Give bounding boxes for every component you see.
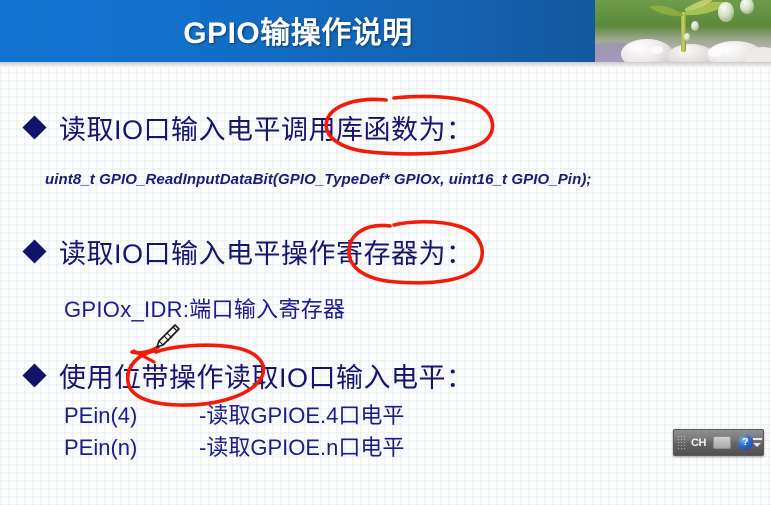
bullet-item-2: 读取IO口输入电平操作寄存器为： — [26, 232, 474, 271]
bitband-example-2-desc: -读取GPIOE.n口电平 — [199, 435, 404, 460]
register-note: GPIOx_IDR:端口输入寄存器 — [64, 292, 345, 324]
chevron-down-icon[interactable] — [753, 443, 761, 447]
minimize-icon[interactable] — [753, 438, 762, 440]
help-icon[interactable]: ? — [738, 435, 753, 450]
page-title: GPIO输操作说明 — [0, 8, 596, 52]
drag-grip-handle[interactable] — [677, 435, 687, 450]
diamond-bullet-icon — [22, 363, 46, 387]
code-signature: uint8_t GPIO_ReadInputDataBit(GPIO_TypeD… — [45, 171, 592, 188]
bitband-example-1: PEin(4)-读取GPIOE.4口电平 — [64, 398, 404, 430]
bullet-item-2-label: 读取IO口输入电平操作寄存器为： — [59, 232, 474, 271]
bullet-item-1: 读取IO口输入电平调用库函数为： — [26, 108, 474, 147]
ime-language-bar[interactable]: CH ? — [673, 429, 764, 456]
presentation-slide: GPIO输操作说明 — [0, 0, 771, 505]
bullet-item-3: 使用位带操作读取IO口输入电平： — [26, 356, 474, 395]
ime-window-controls — [753, 438, 762, 447]
slide-body: 读取IO口输入电平调用库函数为： uint8_t GPIO_ReadInputD… — [0, 62, 771, 505]
bitband-example-2-call: PEin(n) — [64, 435, 199, 461]
bitband-example-1-desc: -读取GPIOE.4口电平 — [199, 403, 404, 428]
ime-language-label[interactable]: CH — [691, 437, 706, 449]
header-underline — [0, 62, 771, 67]
diamond-bullet-icon — [22, 239, 46, 263]
diamond-bullet-icon — [22, 115, 46, 139]
keyboard-icon[interactable] — [713, 436, 731, 449]
bitband-example-2: PEin(n)-读取GPIOE.n口电平 — [64, 430, 404, 462]
header-photo — [595, 0, 771, 62]
bullet-item-3-label: 使用位带操作读取IO口输入电平： — [59, 356, 474, 395]
bitband-example-1-call: PEin(4) — [64, 403, 199, 429]
bullet-item-1-label: 读取IO口输入电平调用库函数为： — [59, 108, 474, 147]
sprout-photo-image — [595, 0, 771, 62]
